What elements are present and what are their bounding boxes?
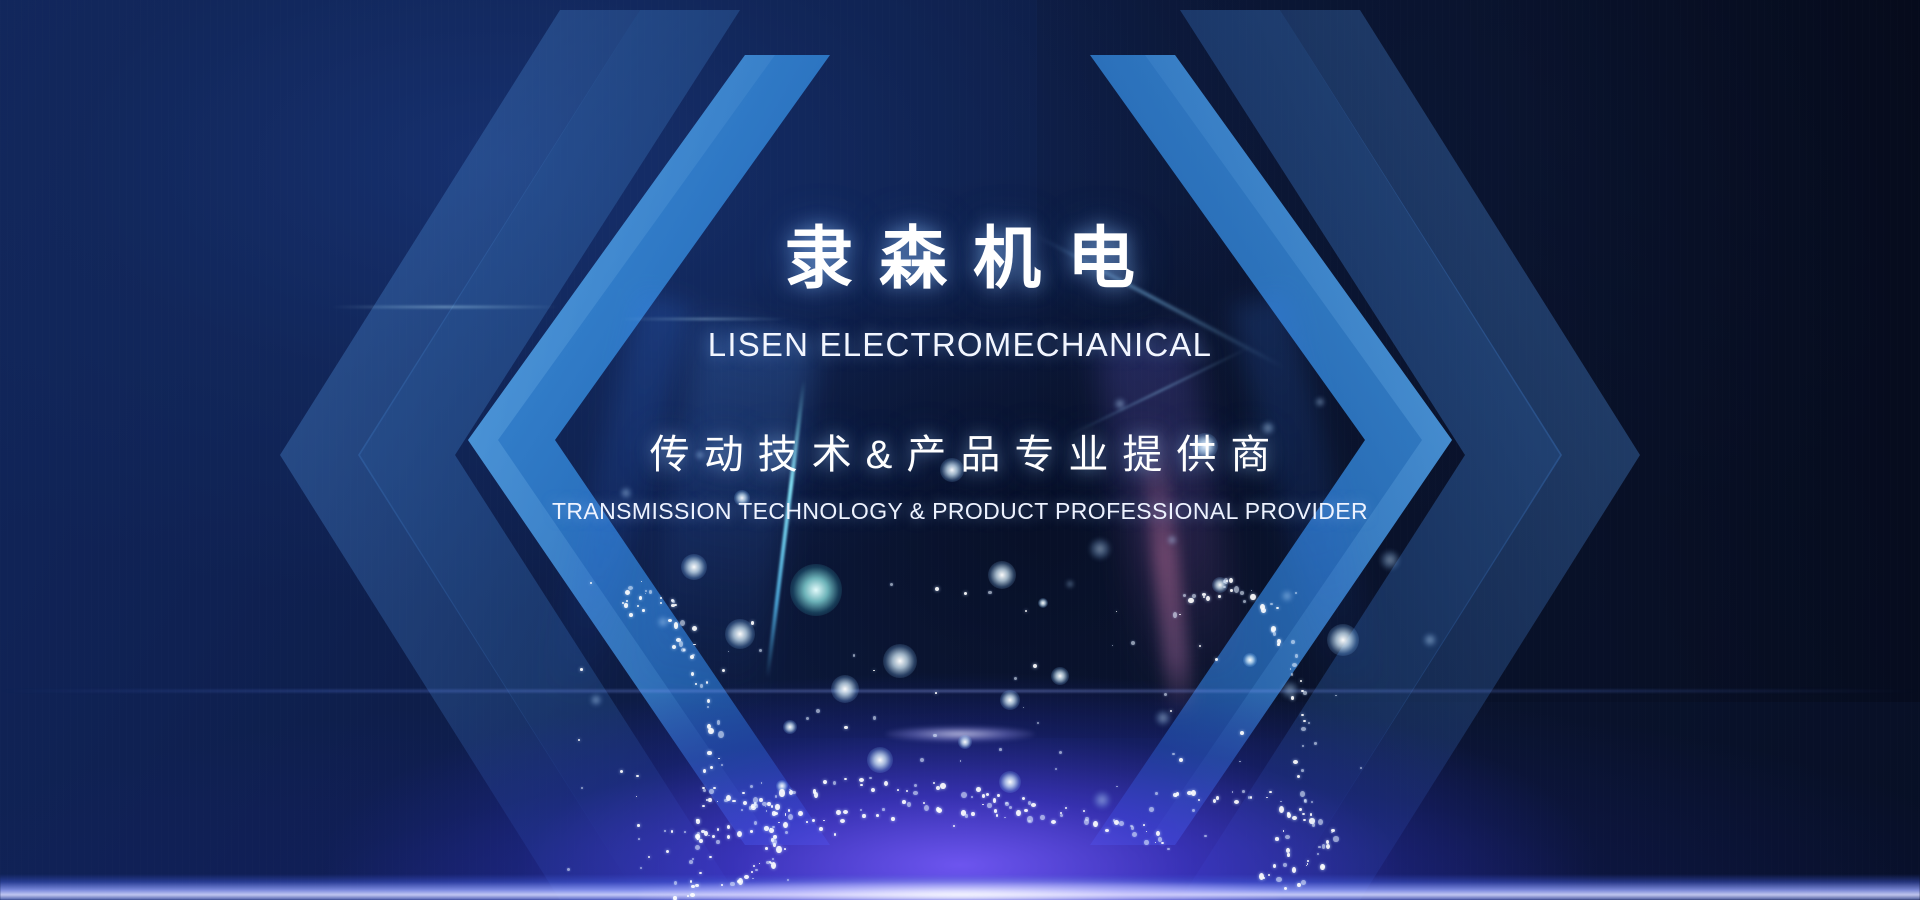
banner-hero: 隶森机电 LISEN ELECTROMECHANICAL 传动技术&产品专业提供… bbox=[0, 0, 1920, 900]
slogan-english: TRANSMISSION TECHNOLOGY & PRODUCT PROFES… bbox=[0, 500, 1920, 523]
bottom-light-hotspot bbox=[640, 878, 1280, 900]
brand-name-english: LISEN ELECTROMECHANICAL bbox=[0, 328, 1920, 361]
slogan-chinese: 传动技术&产品专业提供商 bbox=[0, 435, 1920, 475]
lens-flare-streak-a bbox=[330, 306, 560, 308]
lens-flare-streak-b bbox=[620, 318, 790, 320]
stage-floor-glow bbox=[0, 610, 1920, 900]
brand-name-chinese: 隶森机电 bbox=[0, 225, 1920, 293]
stage-floor-center-highlight bbox=[885, 726, 1035, 742]
stage-floor-horizon-line bbox=[0, 690, 1920, 692]
